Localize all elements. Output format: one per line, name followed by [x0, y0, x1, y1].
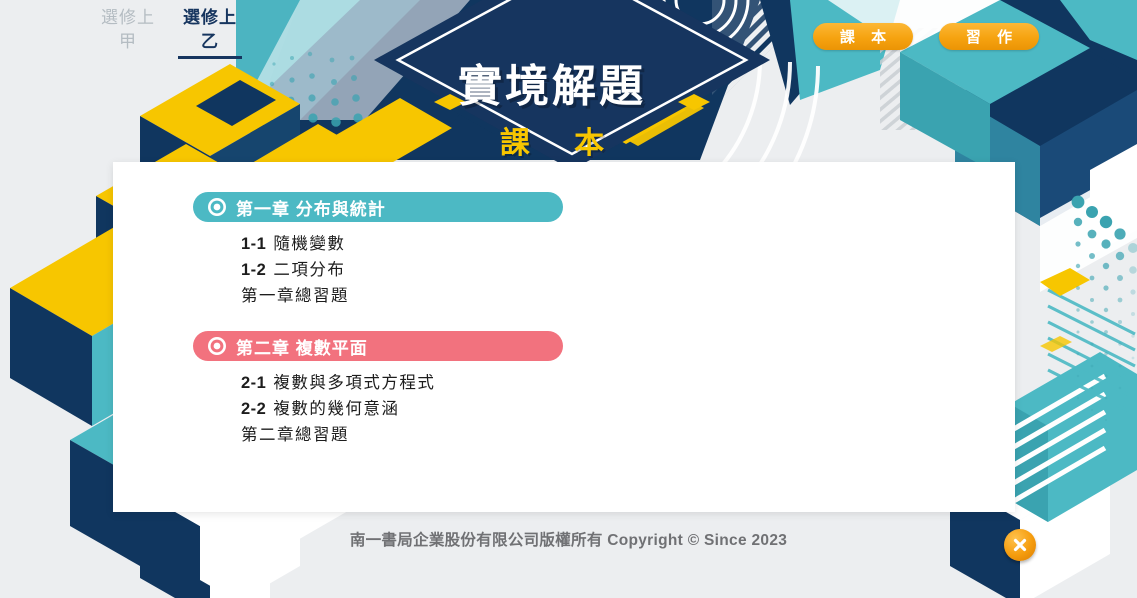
section-1-2[interactable]: 1-2二項分布	[241, 257, 1015, 283]
tab-elective-b-label: 選修上乙	[183, 8, 237, 51]
chapter-2-review-label: 第二章總習題	[241, 426, 349, 444]
chapter-list: 第一章 分布與統計 1-1隨機變數 1-2二項分布 第一章總習題	[113, 162, 1015, 448]
content-panel: 第一章 分布與統計 1-1隨機變數 1-2二項分布 第一章總習題	[113, 162, 1015, 512]
chapter-1-review[interactable]: 第一章總習題	[241, 283, 1015, 309]
chapter-2-header[interactable]: 第二章 複數平面	[193, 331, 563, 361]
chapter-1-review-label: 第一章總習題	[241, 287, 349, 305]
chapter-2-sections: 2-1複數與多項式方程式 2-2複數的幾何意涵 第二章總習題	[193, 361, 1015, 448]
copyright-footer: 南一書局企業股份有限公司版權所有 Copyright © Since 2023	[0, 528, 1137, 550]
tab-elective-b[interactable]: 選修上乙	[178, 6, 242, 59]
chapter-2-title: 第二章 複數平面	[236, 334, 368, 359]
tab-elective-a-label: 選修上甲	[101, 8, 155, 51]
chapter-2: 第二章 複數平面 2-1複數與多項式方程式 2-2複數的幾何意涵 第二章總習題	[193, 331, 1015, 448]
section-2-2[interactable]: 2-2複數的幾何意涵	[241, 396, 1015, 422]
volume-tabs: 選修上甲 選修上乙	[96, 6, 242, 59]
section-2-2-number: 2-2	[241, 400, 266, 418]
close-button[interactable]	[1004, 529, 1036, 561]
book-type-buttons: 課 本 習 作	[813, 23, 1039, 50]
workbook-button[interactable]: 習 作	[939, 23, 1039, 50]
section-1-1-label: 隨機變數	[273, 235, 345, 253]
section-1-2-number: 1-2	[241, 261, 266, 279]
chapter-1-header[interactable]: 第一章 分布與統計	[193, 192, 563, 222]
section-2-1[interactable]: 2-1複數與多項式方程式	[241, 370, 1015, 396]
section-1-1-number: 1-1	[241, 235, 266, 253]
chapter-2-review[interactable]: 第二章總習題	[241, 422, 1015, 448]
textbook-button[interactable]: 課 本	[813, 23, 913, 50]
app-window: 實境解題 課 本 選修上甲 選修上乙 課 本 習 作	[0, 0, 1137, 598]
target-icon	[207, 336, 227, 356]
section-2-1-label: 複數與多項式方程式	[273, 374, 435, 392]
tab-elective-a[interactable]: 選修上甲	[96, 6, 160, 56]
target-icon	[207, 197, 227, 217]
chapter-1-sections: 1-1隨機變數 1-2二項分布 第一章總習題	[193, 222, 1015, 309]
chapter-1: 第一章 分布與統計 1-1隨機變數 1-2二項分布 第一章總習題	[193, 192, 1015, 309]
chapter-1-title: 第一章 分布與統計	[236, 195, 386, 220]
section-1-2-label: 二項分布	[273, 261, 345, 279]
section-2-2-label: 複數的幾何意涵	[273, 400, 399, 418]
close-icon	[1011, 536, 1029, 554]
section-1-1[interactable]: 1-1隨機變數	[241, 231, 1015, 257]
banner-diamond	[372, 0, 772, 166]
section-2-1-number: 2-1	[241, 374, 266, 392]
